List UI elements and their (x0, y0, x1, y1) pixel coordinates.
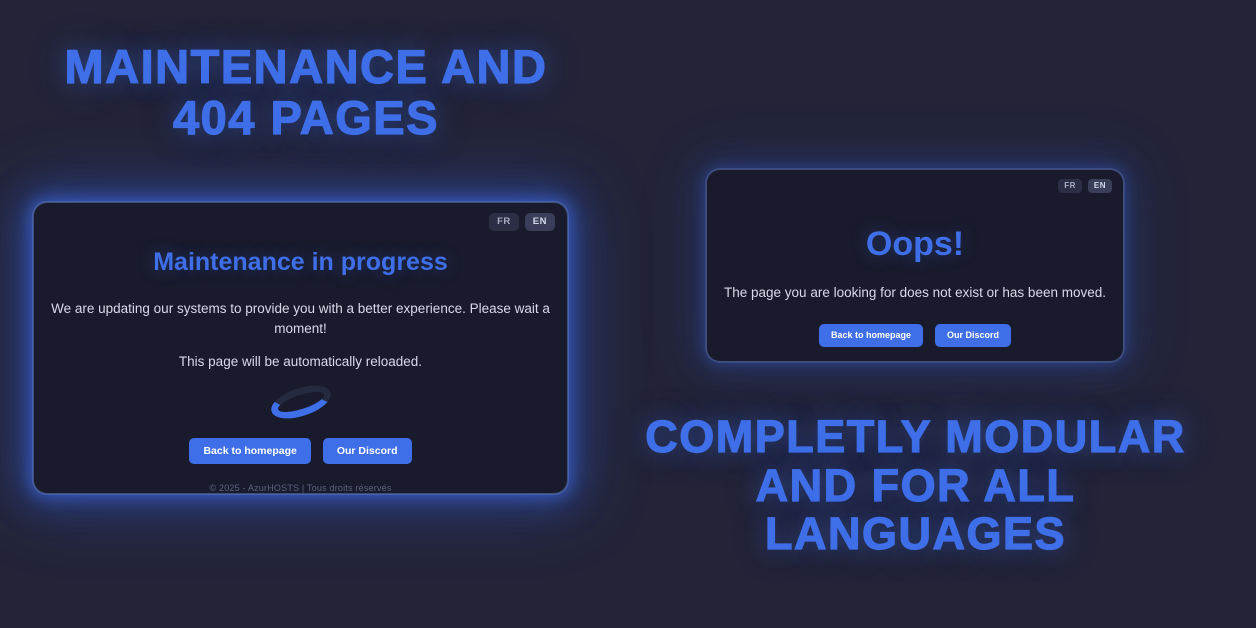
maintenance-action-row: Back to homepage Our Discord (189, 438, 411, 465)
maintenance-title: Maintenance in progress (153, 248, 448, 277)
loading-spinner-icon (267, 379, 335, 425)
our-discord-button[interactable]: Our Discord (323, 438, 412, 465)
language-button-en[interactable]: EN (1088, 179, 1112, 193)
maintenance-footer-copyright: © 2025 - AzurHOSTS | Tous droits réservé… (209, 483, 391, 493)
promo-stage: MAINTENANCE AND 404 PAGES FR EN Maintena… (0, 0, 1256, 628)
maintenance-card-body: Maintenance in progress We are updating … (34, 203, 567, 493)
error-404-page-card: FR EN Oops! The page you are looking for… (706, 169, 1124, 362)
back-to-homepage-button[interactable]: Back to homepage (819, 324, 923, 347)
maintenance-page-card: FR EN Maintenance in progress We are upd… (33, 202, 568, 494)
language-button-en[interactable]: EN (525, 213, 555, 231)
error-message: The page you are looking for does not ex… (724, 283, 1106, 303)
maintenance-message-primary: We are updating our systems to provide y… (34, 299, 567, 338)
promo-heading-bottom: COMPLETLY MODULAR AND FOR ALL LANGUAGES (638, 413, 1193, 559)
error-action-row: Back to homepage Our Discord (819, 324, 1011, 347)
error-title: Oops! (866, 225, 964, 264)
language-button-fr[interactable]: FR (489, 213, 519, 231)
promo-heading-top: MAINTENANCE AND 404 PAGES (36, 42, 576, 144)
our-discord-button[interactable]: Our Discord (935, 324, 1011, 347)
language-switcher-error: FR EN (1058, 179, 1112, 193)
language-button-fr[interactable]: FR (1058, 179, 1082, 193)
language-switcher-maintenance: FR EN (489, 213, 555, 231)
back-to-homepage-button[interactable]: Back to homepage (189, 438, 310, 465)
error-card-body: Oops! The page you are looking for does … (707, 170, 1123, 361)
maintenance-message-secondary: This page will be automatically reloaded… (179, 352, 422, 372)
